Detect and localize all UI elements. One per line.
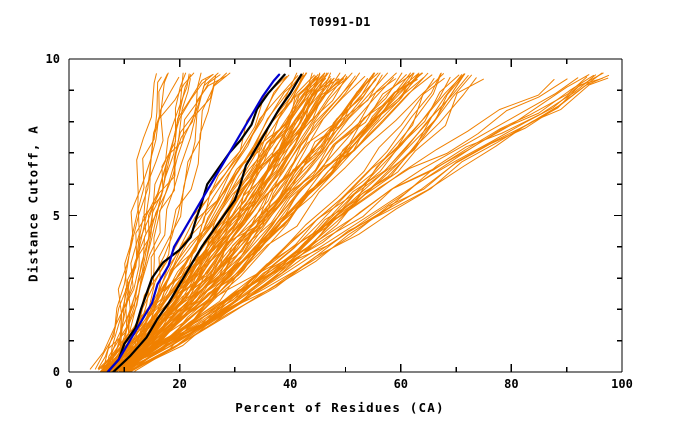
y-tick-label: 10 bbox=[36, 52, 60, 66]
y-tick-label: 0 bbox=[36, 365, 60, 379]
x-axis-label: Percent of Residues (CA) bbox=[0, 400, 680, 415]
plot-area bbox=[69, 59, 622, 372]
x-tick-label: 40 bbox=[283, 377, 297, 391]
x-tick-label: 60 bbox=[394, 377, 408, 391]
y-axis-label: Distance Cutoff, A bbox=[26, 94, 41, 314]
page-title: T0991-D1 bbox=[0, 15, 680, 29]
x-tick-label: 100 bbox=[611, 377, 633, 391]
x-tick-label: 20 bbox=[172, 377, 186, 391]
chart-root: T0991-D1 020406080100 0510 Percent of Re… bbox=[0, 0, 680, 440]
chart-curve bbox=[99, 73, 331, 368]
x-tick-label: 80 bbox=[504, 377, 518, 391]
curve-canvas bbox=[69, 59, 622, 372]
chart-curve bbox=[114, 75, 594, 370]
x-tick-label: 0 bbox=[65, 377, 72, 391]
